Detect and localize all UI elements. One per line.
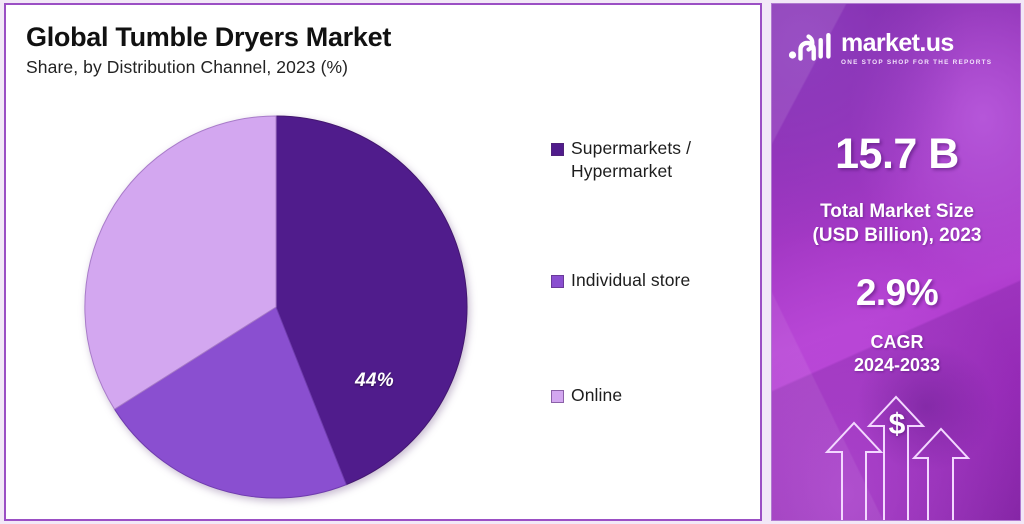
- cagr-caption-line1: CAGR: [871, 332, 924, 352]
- pie-chart: 44%: [83, 112, 471, 502]
- pie-svg: [83, 112, 471, 502]
- promo-panel: market.us ONE STOP SHOP FOR THE REPORTS …: [771, 3, 1021, 521]
- cagr-value: 2.9%: [772, 272, 1021, 314]
- legend: Supermarkets / Hypermarket Individual st…: [551, 137, 751, 407]
- legend-item-individual-store[interactable]: Individual store: [551, 269, 751, 292]
- pie-slice-label-supermarkets: 44%: [355, 370, 394, 392]
- legend-item-supermarkets[interactable]: Supermarkets / Hypermarket: [551, 137, 751, 183]
- legend-label-online: Online: [571, 384, 622, 407]
- legend-label-individual-store: Individual store: [571, 269, 690, 292]
- market-size-caption: Total Market Size (USD Billion), 2023: [772, 200, 1021, 248]
- chart-panel: Global Tumble Dryers Market Share, by Di…: [4, 3, 762, 521]
- brand-logo[interactable]: market.us ONE STOP SHOP FOR THE REPORTS: [788, 30, 1008, 67]
- brand-text-wrap: market.us ONE STOP SHOP FOR THE REPORTS: [841, 31, 992, 66]
- market-us-logo-icon: [788, 30, 834, 67]
- legend-swatch-individual-store: [551, 275, 564, 288]
- legend-swatch-supermarkets: [551, 143, 564, 156]
- legend-label-supermarkets: Supermarkets / Hypermarket: [571, 137, 751, 183]
- legend-swatch-online: [551, 390, 564, 403]
- page-title: Global Tumble Dryers Market: [26, 23, 626, 51]
- market-size-value: 15.7 B: [772, 130, 1021, 179]
- chart-subtitle: Share, by Distribution Channel, 2023 (%): [26, 57, 626, 78]
- title-block: Global Tumble Dryers Market Share, by Di…: [26, 23, 626, 78]
- brand-name: market.us: [841, 31, 992, 56]
- cagr-caption-line2: 2024-2033: [854, 355, 940, 375]
- growth-arrows-icon: [772, 390, 1021, 520]
- infographic-root: Global Tumble Dryers Market Share, by Di…: [0, 0, 1024, 524]
- market-size-caption-line2: (USD Billion), 2023: [813, 225, 982, 246]
- cagr-caption: CAGR 2024-2033: [772, 331, 1021, 376]
- brand-tagline: ONE STOP SHOP FOR THE REPORTS: [841, 59, 992, 66]
- market-size-caption-line1: Total Market Size: [820, 201, 974, 222]
- legend-item-online[interactable]: Online: [551, 384, 751, 407]
